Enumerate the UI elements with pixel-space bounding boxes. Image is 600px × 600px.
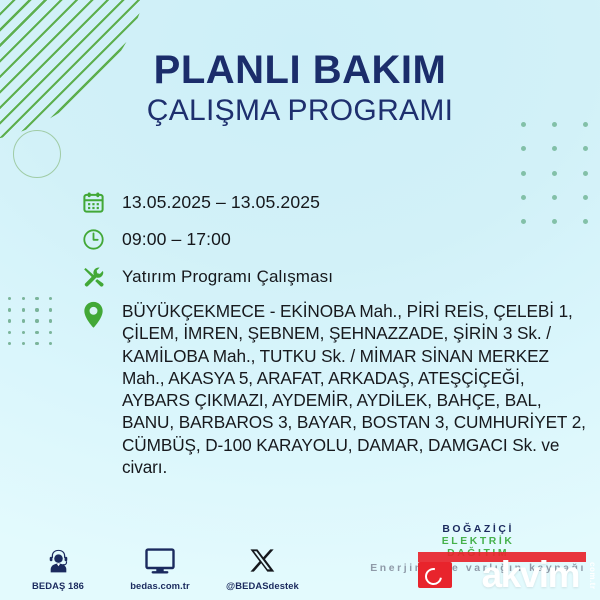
contact-channels: BEDAŞ 186 bedas.com.tr <box>22 545 298 591</box>
poster-header: PLANLI BAKIM ÇALIŞMA PROGRAMI <box>0 50 600 127</box>
detail-row-time: 09:00 – 17:00 <box>82 227 586 251</box>
watermark-domain-suffix: com.tr <box>588 562 597 589</box>
poster-root: PLANLI BAKIM ÇALIŞMA PROGRAMI 13 <box>0 0 600 600</box>
detail-row-date: 13.05.2025 – 13.05.2025 <box>82 190 586 214</box>
headset-support-icon <box>22 545 94 575</box>
detail-work-type-value: Yatırım Programı Çalışması <box>122 264 333 285</box>
watermark-logo-badge <box>418 562 452 588</box>
detail-row-location: BÜYÜKÇEKMECE - EKİNOBA Mah., PİRİ REİS, … <box>82 300 586 478</box>
brand-line-2: ELEKTRİK <box>370 536 586 548</box>
contact-phone-label: BEDAŞ 186 <box>22 580 94 591</box>
poster-footer: BEDAŞ 186 bedas.com.tr <box>0 533 600 597</box>
circle-outline-decoration <box>13 130 61 178</box>
dot-grid-left-decoration <box>8 297 62 353</box>
contact-x-social[interactable]: @BEDASdestek <box>226 545 298 591</box>
detail-location-value: BÜYÜKÇEKMECE - EKİNOBA Mah., PİRİ REİS, … <box>122 300 586 478</box>
clock-icon <box>82 227 122 251</box>
detail-row-work-type: Yatırım Programı Çalışması <box>82 264 586 289</box>
page-title-primary: PLANLI BAKIM <box>0 50 600 90</box>
contact-website-label: bedas.com.tr <box>124 580 196 591</box>
outage-details: 13.05.2025 – 13.05.2025 09:00 – 17:00 Ya… <box>82 190 586 492</box>
page-title-secondary: ÇALIŞMA PROGRAMI <box>0 95 600 127</box>
brand-line-1: BOĞAZİÇİ <box>370 524 586 536</box>
detail-date-value: 13.05.2025 – 13.05.2025 <box>122 190 320 212</box>
contact-website[interactable]: bedas.com.tr <box>124 545 196 591</box>
contact-x-label: @BEDASdestek <box>226 580 298 591</box>
calendar-icon <box>82 190 122 214</box>
tools-icon <box>82 264 122 289</box>
x-twitter-icon <box>226 545 298 575</box>
watermark-text: akvim <box>482 556 579 593</box>
takvim-watermark: akvim com.tr <box>412 549 597 597</box>
monitor-website-icon <box>124 545 196 575</box>
detail-time-value: 09:00 – 17:00 <box>122 227 231 249</box>
contact-phone[interactable]: BEDAŞ 186 <box>22 545 94 591</box>
location-pin-icon <box>82 300 122 328</box>
